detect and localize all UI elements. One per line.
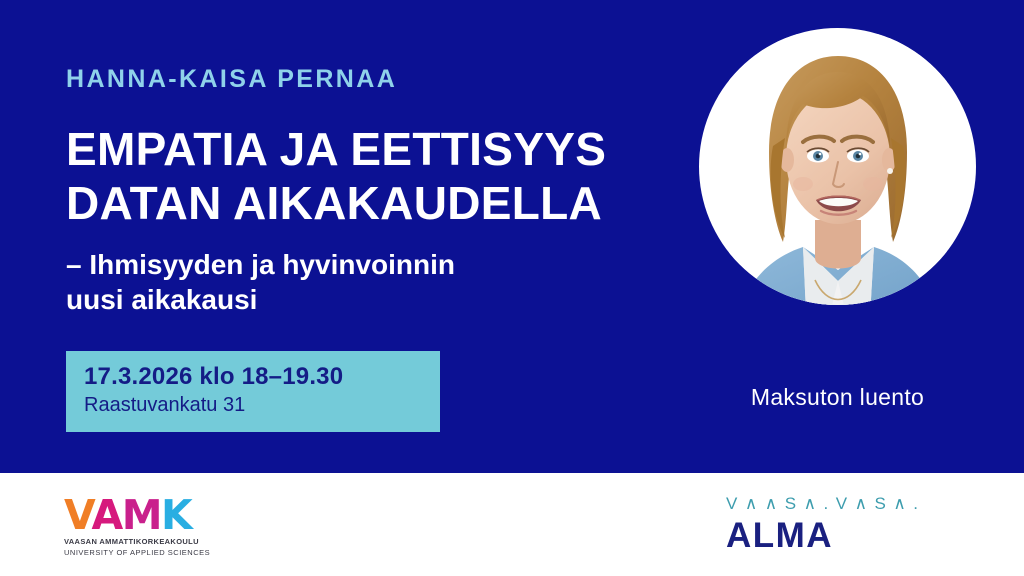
vamk-letter-k: K — [161, 491, 191, 539]
title-line-2: DATAN AIKAKAUDELLA — [66, 176, 666, 231]
vamk-tagline-english: UNIVERSITY OF APPLIED SCIENCES — [64, 548, 210, 558]
page-title: EMPATIA JA EETTISYYS DATAN AIKAKAUDELLA — [66, 122, 666, 231]
subtitle-line-1: – Ihmisyyden ja hyvinvoinnin — [66, 247, 666, 282]
text-column: HANNA-KAISA PERNAA EMPATIA JA EETTISYYS … — [66, 66, 666, 318]
vamk-logo: VAMK VAASAN AMMATTIKORKEAKOULU UNIVERSIT… — [64, 495, 210, 558]
speaker-portrait — [699, 28, 976, 305]
portrait-illustration — [729, 34, 947, 305]
event-details-box: 17.3.2026 klo 18–19.30 Raastuvankatu 31 — [66, 351, 440, 432]
alma-wordmark: ALMA — [726, 518, 976, 555]
event-date-time: 17.3.2026 klo 18–19.30 — [84, 363, 440, 391]
portrait-circle-frame — [699, 28, 976, 305]
vamk-letter-a: A — [91, 491, 121, 539]
vamk-letter-v: V — [64, 491, 91, 539]
event-poster: HANNA-KAISA PERNAA EMPATIA JA EETTISYYS … — [0, 0, 1024, 576]
vamk-wordmark: VAMK — [64, 495, 210, 536]
vamk-tagline-finnish: VAASAN AMMATTIKORKEAKOULU — [64, 537, 210, 547]
footer-bar: VAMK VAASAN AMMATTIKORKEAKOULU UNIVERSIT… — [0, 473, 1024, 576]
speaker-name: HANNA-KAISA PERNAA — [66, 66, 666, 94]
vaasa-alma-logo: V∧∧S∧.V∧S∧. ALMA — [726, 495, 976, 554]
lecture-subtitle: – Ihmisyyden ja hyvinvoinnin uusi aikaka… — [66, 247, 666, 318]
alma-city-line: V∧∧S∧.V∧S∧. — [726, 495, 976, 514]
free-lecture-label: Maksuton luento — [699, 384, 976, 411]
vamk-letter-m: M — [122, 491, 161, 539]
event-address: Raastuvankatu 31 — [84, 393, 440, 418]
hero-panel: HANNA-KAISA PERNAA EMPATIA JA EETTISYYS … — [0, 0, 1024, 473]
subtitle-line-2: uusi aikakausi — [66, 282, 666, 317]
title-line-1: EMPATIA JA EETTISYYS — [66, 122, 666, 177]
